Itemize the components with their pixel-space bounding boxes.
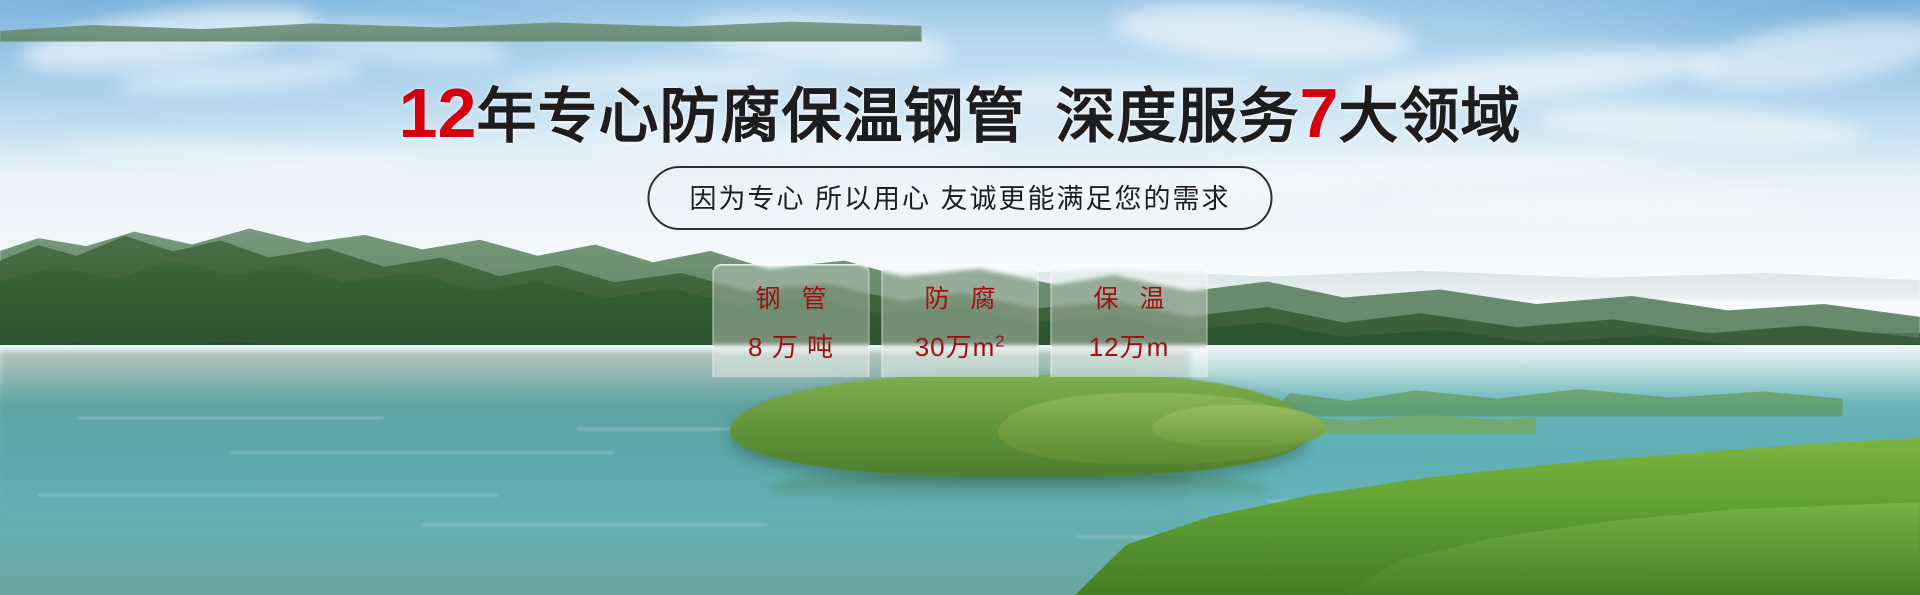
stat-card-value-text: 12万m (1089, 332, 1170, 362)
stat-card-anticorrosion: 防 腐 30万m2 (882, 264, 1039, 377)
stat-card-label: 钢 管 (749, 279, 834, 315)
headline-text-service: 深度服务 (1055, 83, 1299, 150)
banner-content: 12年专心防腐保温钢管深度服务7大领域 因为专心 所以用心 友诚更能满足您的需求… (0, 0, 1920, 595)
stat-card-value: 12万m (1089, 327, 1170, 364)
headline-text-fields: 大领域 (1338, 83, 1521, 150)
stat-card-steel-pipe: 钢 管 8 万 吨 (713, 264, 870, 377)
stat-card-value: 8 万 吨 (748, 327, 834, 364)
stat-card-value-text: 30万m (915, 332, 996, 362)
stat-card-value: 30万m2 (915, 327, 1006, 364)
stat-card-insulation: 保 温 12万m (1051, 264, 1208, 377)
headline-text-primary: 年专心防腐保温钢管 (476, 83, 1025, 150)
subtitle-pill: 因为专心 所以用心 友诚更能满足您的需求 (647, 166, 1272, 230)
stat-card-label: 防 腐 (918, 279, 1003, 315)
stat-card-label: 保 温 (1087, 279, 1172, 315)
stat-card-group: 钢 管 8 万 吨 防 腐 30万m2 保 温 12万m (713, 264, 1208, 377)
headline-years-number: 12 (399, 74, 477, 152)
promo-banner: 12年专心防腐保温钢管深度服务7大领域 因为专心 所以用心 友诚更能满足您的需求… (0, 0, 1920, 595)
stat-card-value-text: 8 万 吨 (748, 332, 834, 362)
stat-card-value-superscript: 2 (995, 332, 1005, 350)
headline: 12年专心防腐保温钢管深度服务7大领域 (0, 78, 1920, 148)
headline-fields-number: 7 (1299, 74, 1338, 152)
